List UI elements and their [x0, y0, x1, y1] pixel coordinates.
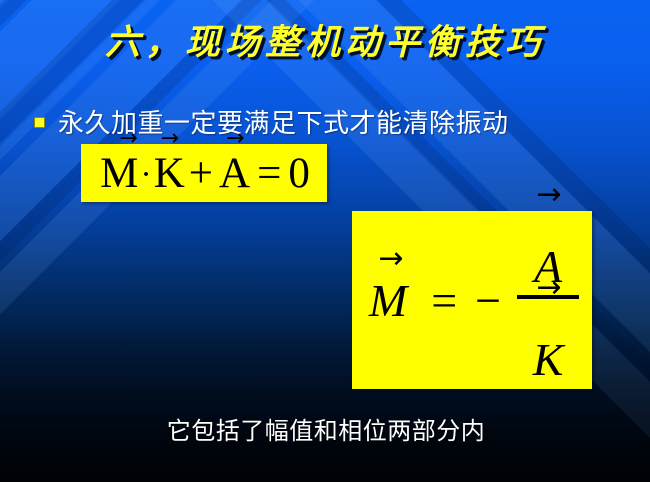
- operator-equals: =: [431, 274, 457, 327]
- operator-minus: −: [475, 274, 501, 327]
- bullet-row: 永久加重一定要满足下式才能清除振动: [34, 103, 509, 140]
- slide-canvas: 六，现场整机动平衡技巧 永久加重一定要满足下式才能清除振动 M→ · K→ + …: [0, 0, 650, 482]
- square-bullet-icon: [34, 117, 45, 128]
- slide-caption: 它包括了幅值和相位两部分内: [0, 411, 650, 446]
- vector-k: K→: [154, 152, 185, 195]
- formula-primary-expression: M→ · K→ + A→ = 0: [98, 152, 310, 195]
- formula-primary: M→ · K→ + A→ = 0: [81, 144, 327, 202]
- slide-caption-text: 它包括了幅值和相位两部分内: [167, 411, 486, 446]
- vector-a: A→: [219, 152, 250, 195]
- operator-plus: +: [189, 152, 213, 195]
- operator-dot: ·: [140, 158, 151, 192]
- vector-k-letter: K: [154, 150, 185, 197]
- vector-a-letter: A: [219, 150, 250, 197]
- vector-arrow-icon: →: [536, 180, 561, 210]
- constant-zero: 0: [288, 152, 310, 195]
- vector-m: M→: [100, 152, 138, 195]
- band-stripe: [0, 0, 355, 449]
- fraction-bar: [517, 295, 579, 299]
- band-stripe: [0, 0, 324, 462]
- slide-title: 六，现场整机动平衡技巧: [0, 14, 650, 65]
- vector-k-letter: K: [533, 334, 564, 385]
- bullet-text: 永久加重一定要满足下式才能清除振动: [58, 103, 509, 140]
- fraction: A→ K→: [517, 210, 579, 386]
- vector-a-letter: A: [534, 241, 562, 292]
- operator-equals: =: [257, 152, 281, 195]
- vector-m: M→: [369, 274, 407, 327]
- fraction-numerator-vector-a: A→: [524, 210, 572, 293]
- formula-secondary: M→ = − A→ K→: [352, 211, 592, 389]
- formula-secondary-expression: M→ = − A→ K→: [365, 212, 579, 388]
- vector-m-letter: M: [369, 275, 407, 326]
- fraction-denominator-vector-k: K→: [523, 303, 574, 386]
- vector-arrow-icon: →: [379, 244, 404, 274]
- vector-m-letter: M: [100, 150, 138, 197]
